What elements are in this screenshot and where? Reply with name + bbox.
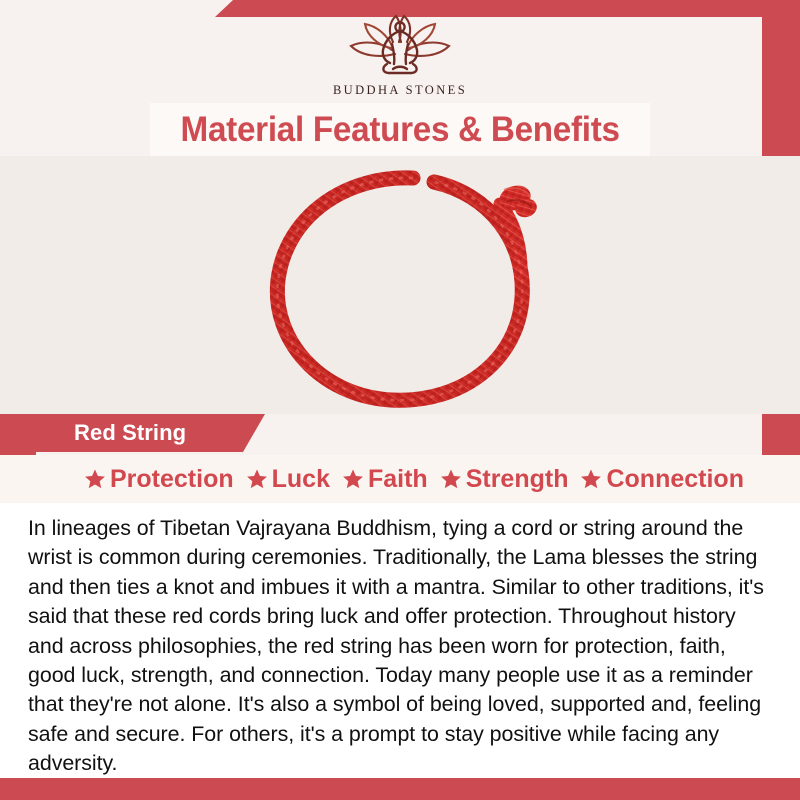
brand-name: BUDDHA STONES [333, 83, 467, 98]
benefit-label: Connection [606, 465, 744, 494]
title-banner: Material Features & Benefits [150, 103, 650, 156]
infographic-page: BUDDHA STONES Material Features & Benefi… [0, 0, 800, 800]
brand-header: BUDDHA STONES [0, 0, 800, 104]
star-icon [580, 468, 602, 490]
benefit-label: Faith [368, 465, 428, 494]
page-title: Material Features & Benefits [180, 110, 619, 150]
description-text: In lineages of Tibetan Vajrayana Buddhis… [28, 514, 764, 779]
benefit-item-faith: Faith [342, 465, 428, 494]
star-icon [342, 468, 364, 490]
benefit-item-connection: Connection [580, 465, 744, 494]
star-icon [440, 468, 462, 490]
material-label: Red String [74, 420, 186, 446]
benefit-item-strength: Strength [440, 465, 569, 494]
red-string-bracelet [238, 164, 563, 414]
benefit-label: Protection [110, 465, 234, 494]
description-panel: In lineages of Tibetan Vajrayana Buddhis… [0, 503, 800, 778]
benefit-label: Strength [466, 465, 569, 494]
benefits-row: Protection Luck Faith Strength Connectio… [0, 455, 800, 503]
benefit-label: Luck [272, 465, 330, 494]
material-label-banner: Red String [0, 414, 265, 452]
lotus-meditation-icon [335, 14, 465, 81]
star-icon [246, 468, 268, 490]
frame-bottom-accent [0, 778, 800, 800]
product-image-area [0, 156, 800, 414]
star-icon [84, 468, 106, 490]
brand-logo: BUDDHA STONES [333, 14, 467, 98]
benefit-item-protection: Protection [84, 465, 234, 494]
benefit-item-luck: Luck [246, 465, 330, 494]
